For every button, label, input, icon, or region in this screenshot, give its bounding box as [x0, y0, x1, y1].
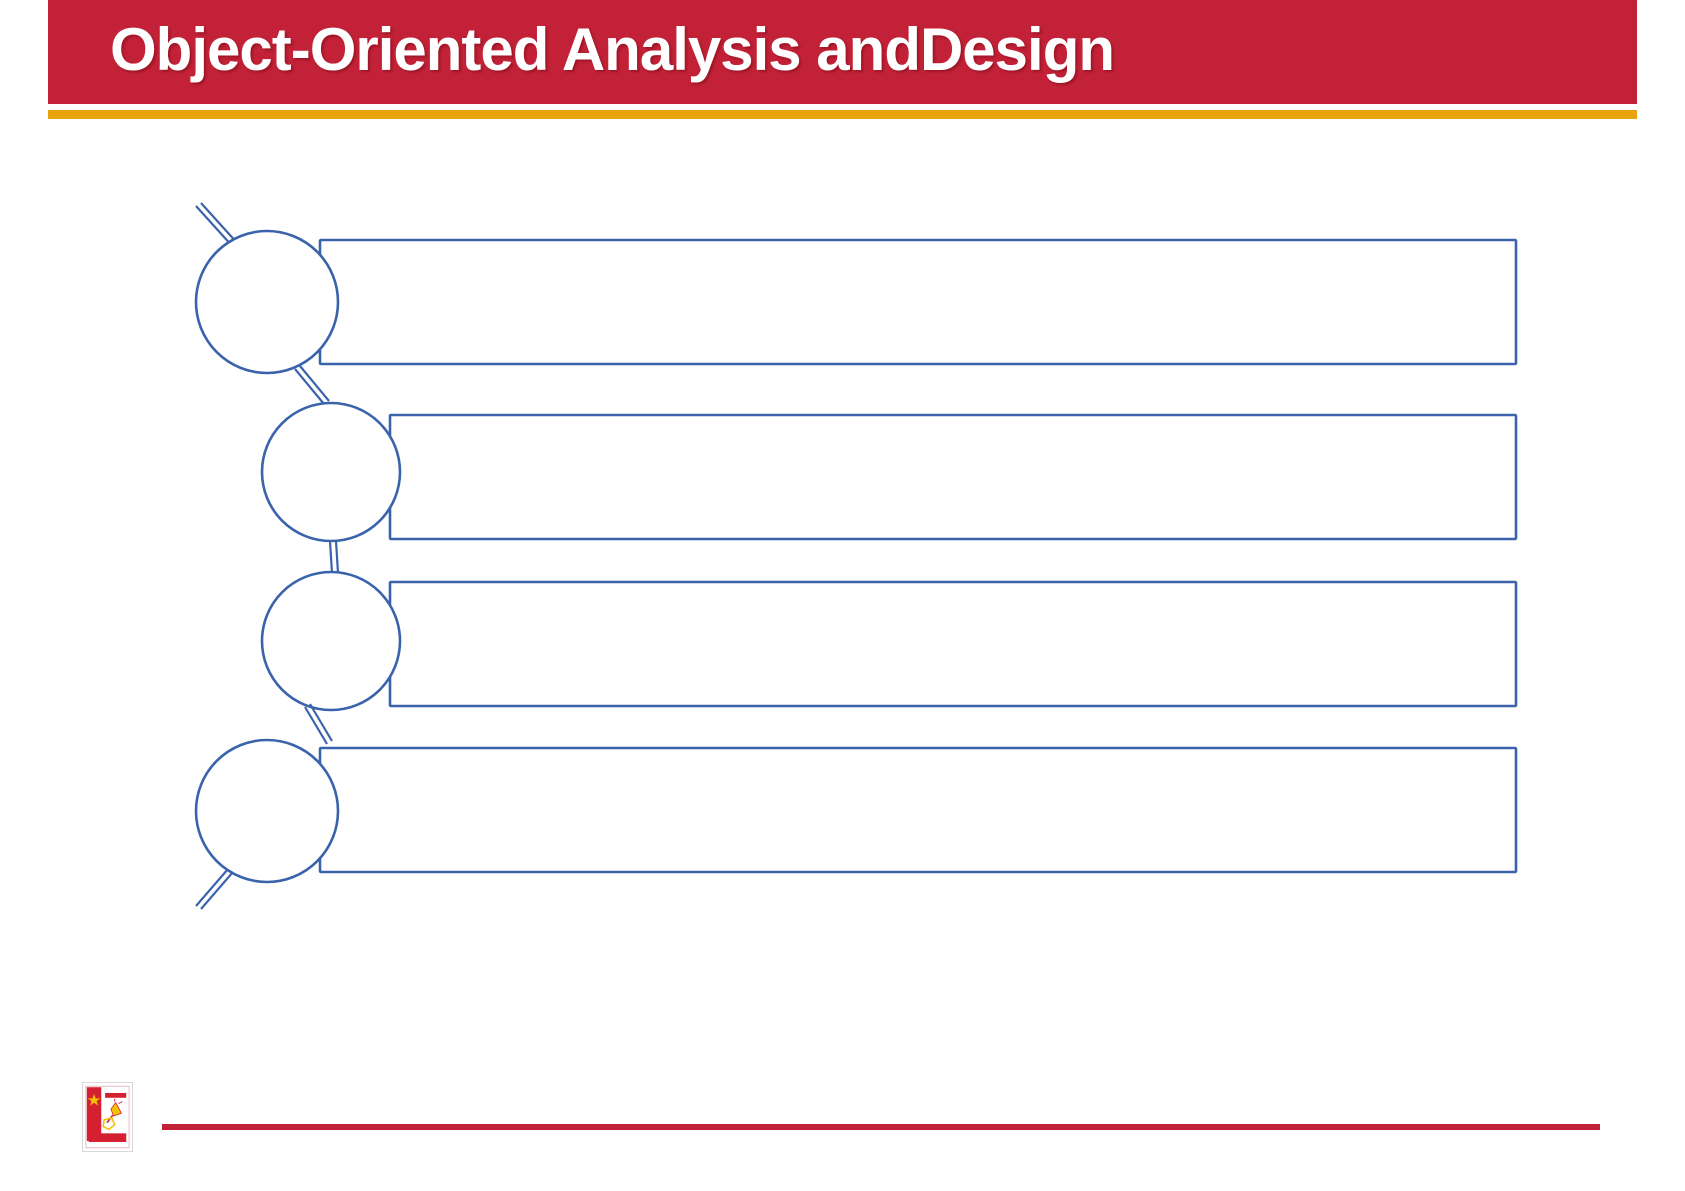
process-bar-2[interactable]: [390, 415, 1516, 539]
connector-1-2: [295, 366, 329, 404]
process-bar-1[interactable]: [320, 240, 1516, 364]
process-circle-3[interactable]: [262, 572, 400, 710]
slide-canvas: Object-Oriented Analysis andDesign: [0, 0, 1685, 1191]
page-title: Object-Oriented Analysis andDesign: [110, 8, 1570, 92]
process-bar-4[interactable]: [320, 748, 1516, 872]
connector-bottom: [196, 869, 233, 909]
process-diagram: [0, 0, 1685, 1191]
bach-khoa-university-logo: ĐẠI HỌC BÁCH KHOA: [82, 1082, 133, 1152]
title-accent-bar: [48, 110, 1637, 119]
footer-rule: [162, 1124, 1600, 1130]
process-circle-2[interactable]: [262, 403, 400, 541]
process-circle-1[interactable]: [196, 231, 338, 373]
process-circle-4[interactable]: [196, 740, 338, 882]
connector-2-3: [330, 541, 338, 573]
process-bar-3[interactable]: [390, 582, 1516, 706]
logo-artwork: [83, 1083, 132, 1151]
